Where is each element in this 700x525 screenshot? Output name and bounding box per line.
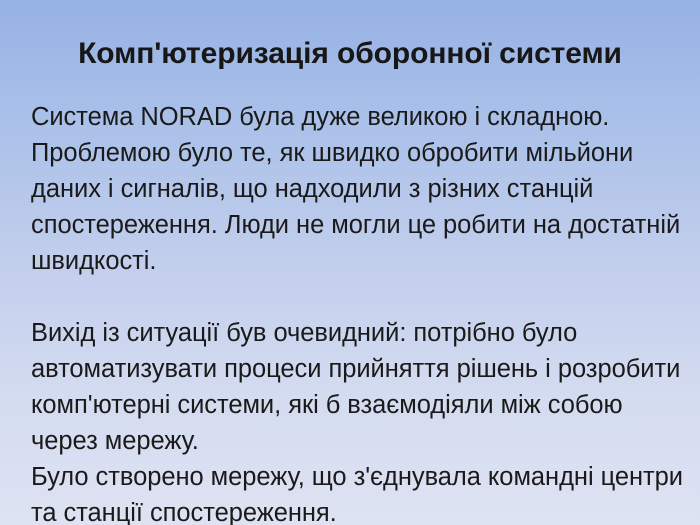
body-line: автоматизувати процеси прийняття рішень … — [31, 351, 681, 387]
body-line: Система NORAD була дуже великою і складн… — [31, 99, 681, 135]
body-line: швидкості. — [31, 243, 681, 279]
body-line: та станції спостереження. — [31, 495, 681, 525]
body-line: Було створено мережу, що з'єднувала кома… — [31, 459, 681, 495]
body-paragraph-1: Система NORAD була дуже великою і складн… — [31, 99, 681, 279]
body-line: комп'ютерні системи, які б взаємодіяли м… — [31, 387, 681, 423]
body-paragraph-2: Вихід із ситуації був очевидний: потрібн… — [31, 315, 681, 525]
page-title: Комп'ютеризація оборонної системи — [0, 36, 700, 72]
body-line: спостереження. Люди не могли це робити н… — [31, 207, 681, 243]
body-line: даних і сигналів, що надходили з різних … — [31, 171, 681, 207]
body-line: Проблемою було те, як швидко обробити мі… — [31, 135, 681, 171]
body-line: через мережу. — [31, 423, 681, 459]
presentation-slide: Комп'ютеризація оборонної системи Систем… — [0, 0, 700, 525]
slide-body: Система NORAD була дуже великою і складн… — [31, 99, 681, 525]
body-line: Вихід із ситуації був очевидний: потрібн… — [31, 315, 681, 351]
paragraph-spacer — [31, 279, 681, 315]
